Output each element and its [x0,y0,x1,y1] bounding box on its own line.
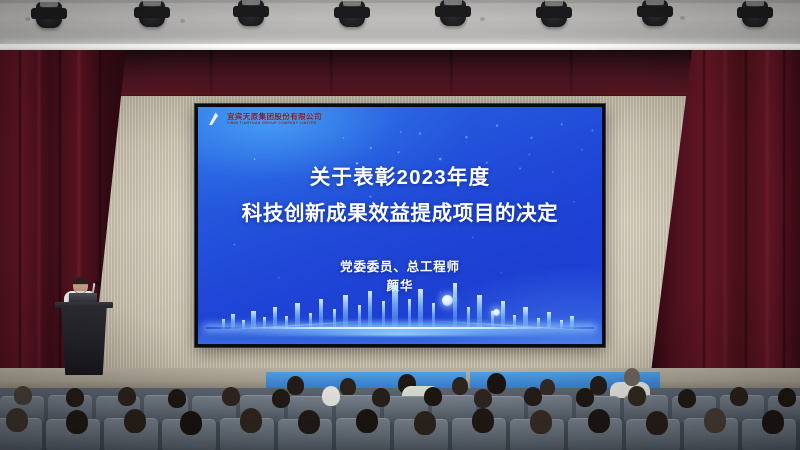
slide-city-skyline [198,266,602,344]
led-screen-frame: 宜宾天原集团股份有限公司 YIBIN TIANYUAN GROUP COMPAN… [195,104,605,347]
skyline-haze [198,320,602,344]
company-logo-text: 宜宾天原集团股份有限公司 YIBIN TIANYUAN GROUP COMPAN… [227,113,322,125]
ceiling-spotlight [440,0,466,26]
ceiling-spotlight [36,2,62,28]
audience-head [180,411,202,435]
audience-head [678,389,696,408]
microphone-head [95,281,99,285]
audience-head [524,387,542,406]
curtain-fold [702,50,706,380]
skyline-moon [493,309,500,316]
ceiling-spotlight [742,1,768,27]
audience-head [124,409,146,433]
audience-head [168,389,186,408]
valance-fold [210,50,213,98]
audience-head [778,388,796,407]
audience-head [424,387,442,406]
audience-head [298,410,320,434]
audience-head [372,388,390,407]
audience-head [222,387,240,406]
audience-head [530,410,552,434]
audience-head [474,389,492,408]
curtain-fold [744,50,748,380]
curtain-highlight [764,50,770,380]
curtain-highlight [36,50,42,380]
slide-title-line1: 关于表彰2023年度 [198,160,602,190]
presentation-slide: 宜宾天原集团股份有限公司 YIBIN TIANYUAN GROUP COMPAN… [198,107,602,344]
ceiling-fixture-dot [180,19,185,23]
audience-head [762,410,784,434]
company-logo: 宜宾天原集团股份有限公司 YIBIN TIANYUAN GROUP COMPAN… [207,111,322,127]
valance-fold [450,50,453,98]
ceiling-spotlight [238,0,264,26]
audience-head [704,408,726,433]
audience-head [472,408,494,433]
audience-head [646,411,668,435]
curtain-fold [58,50,62,380]
audience-head [66,410,88,434]
ceiling-spotlight [642,0,668,26]
ceiling-fixture-dot [25,17,30,21]
auditorium-ceiling [0,0,800,46]
audience-head [66,388,84,407]
speaker-podium [58,305,110,375]
chevron-logo-mark-icon [207,111,223,127]
audience-head [628,386,646,406]
audience-head [287,376,304,395]
ceiling-seam [0,0,800,3]
ceiling-fixture-dot [680,16,685,20]
audience-head [340,378,356,396]
audience-head [540,379,555,396]
company-name-cn: 宜宾天原集团股份有限公司 [227,113,322,121]
valance-fold [570,50,573,98]
ceiling-spotlight [339,1,365,27]
audience-head [414,411,436,435]
slide-title-line2: 科技创新成果效益提成项目的决定 [198,196,602,226]
audience-head [576,388,594,407]
audience-head [118,387,136,406]
ceiling-spotlight [139,1,165,27]
audience-head [356,409,378,433]
audience-head [240,408,262,433]
ceiling-fixture-dot [480,17,485,21]
audience-head [624,368,640,386]
company-name-en: YIBIN TIANYUAN GROUP COMPANY LIMITED [227,122,322,125]
curtain-fold [18,50,22,380]
audience-head [588,409,610,433]
audience-head [6,408,28,432]
valance-fold [330,50,333,98]
audience-head [322,386,340,406]
audience-head [14,386,32,405]
curtain-highlight [722,50,728,380]
ceiling-spotlight [541,1,567,27]
audience-head [452,377,468,395]
audience-head [730,387,748,406]
curtain-fold [782,50,786,380]
audience-head [272,389,290,408]
audience-head [487,373,506,394]
conference-hall-photo: 宜宾天原集团股份有限公司 YIBIN TIANYUAN GROUP COMPAN… [0,0,800,450]
